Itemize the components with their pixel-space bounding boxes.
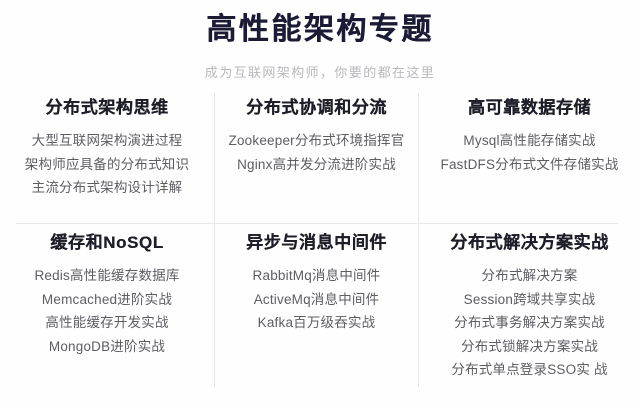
list-item: 主流分布式架构设计详解 — [0, 176, 214, 199]
syllabus-cell-cache-and-nosql: 缓存和NoSQL Redis高性能缓存数据库 Memcached进阶实战 高性能… — [0, 232, 214, 358]
syllabus-grid: 分布式架构思维 大型互联网架构演进过程 架构师应具备的分布式知识 主流分布式架构… — [0, 91, 640, 408]
section-item-list: 分布式解决方案 Session跨域共享实战 分布式事务解决方案实战 分布式锁解决… — [419, 264, 640, 381]
list-item: MongoDB进阶实战 — [0, 335, 214, 358]
syllabus-cell-async-and-message-middleware: 异步与消息中间件 RabbitMq消息中间件 ActiveMq消息中间件 Kaf… — [215, 232, 418, 335]
list-item: 高性能缓存开发实战 — [0, 311, 214, 334]
list-item: 架构师应具备的分布式知识 — [0, 153, 214, 176]
list-item: Session跨域共享实战 — [419, 288, 640, 311]
list-item: RabbitMq消息中间件 — [215, 264, 418, 287]
list-item: Kafka百万级吞实战 — [215, 311, 418, 334]
section-item-list: Redis高性能缓存数据库 Memcached进阶实战 高性能缓存开发实战 Mo… — [0, 264, 214, 358]
list-item: Redis高性能缓存数据库 — [0, 264, 214, 287]
list-item: 大型互联网架构演进过程 — [0, 129, 214, 152]
syllabus-cell-distributed-architecture-thinking: 分布式架构思维 大型互联网架构演进过程 架构师应具备的分布式知识 主流分布式架构… — [0, 97, 214, 200]
horizontal-divider — [16, 223, 618, 224]
list-item: 分布式单点登录SSO实 战 — [419, 358, 640, 381]
list-item: Zookeeper分布式环境指挥官 — [215, 129, 418, 152]
section-title: 分布式架构思维 — [0, 97, 214, 119]
poster-header: 高性能架构专题 成为互联网架构师，你要的都在这里 — [0, 0, 640, 81]
section-item-list: RabbitMq消息中间件 ActiveMq消息中间件 Kafka百万级吞实战 — [215, 264, 418, 334]
course-syllabus-poster: 高性能架构专题 成为互联网架构师，你要的都在这里 分布式架构思维 大型互联网架构… — [0, 0, 640, 408]
section-title: 高可靠数据存储 — [419, 97, 640, 119]
section-item-list: Zookeeper分布式环境指挥官 Nginx高并发分流进阶实战 — [215, 129, 418, 176]
list-item: Memcached进阶实战 — [0, 288, 214, 311]
syllabus-cell-distributed-coordination-and-routing: 分布式协调和分流 Zookeeper分布式环境指挥官 Nginx高并发分流进阶实… — [215, 97, 418, 176]
section-item-list: Mysql高性能存储实战 FastDFS分布式文件存储实战 — [419, 129, 640, 176]
section-title: 分布式协调和分流 — [215, 97, 418, 119]
list-item: 分布式解决方案 — [419, 264, 640, 287]
section-title: 缓存和NoSQL — [0, 232, 214, 254]
section-title: 分布式解决方案实战 — [419, 232, 640, 254]
list-item: ActiveMq消息中间件 — [215, 288, 418, 311]
page-title: 高性能架构专题 — [0, 11, 640, 49]
syllabus-cell-reliable-data-storage: 高可靠数据存储 Mysql高性能存储实战 FastDFS分布式文件存储实战 — [419, 97, 640, 176]
section-title: 异步与消息中间件 — [215, 232, 418, 254]
list-item: 分布式事务解决方案实战 — [419, 311, 640, 334]
list-item: 分布式锁解决方案实战 — [419, 335, 640, 358]
list-item: FastDFS分布式文件存储实战 — [419, 153, 640, 176]
section-item-list: 大型互联网架构演进过程 架构师应具备的分布式知识 主流分布式架构设计详解 — [0, 129, 214, 199]
page-subtitle: 成为互联网架构师，你要的都在这里 — [0, 62, 640, 81]
list-item: Nginx高并发分流进阶实战 — [215, 153, 418, 176]
list-item: Mysql高性能存储实战 — [419, 129, 640, 152]
syllabus-cell-distributed-solutions-practice: 分布式解决方案实战 分布式解决方案 Session跨域共享实战 分布式事务解决方… — [419, 232, 640, 382]
